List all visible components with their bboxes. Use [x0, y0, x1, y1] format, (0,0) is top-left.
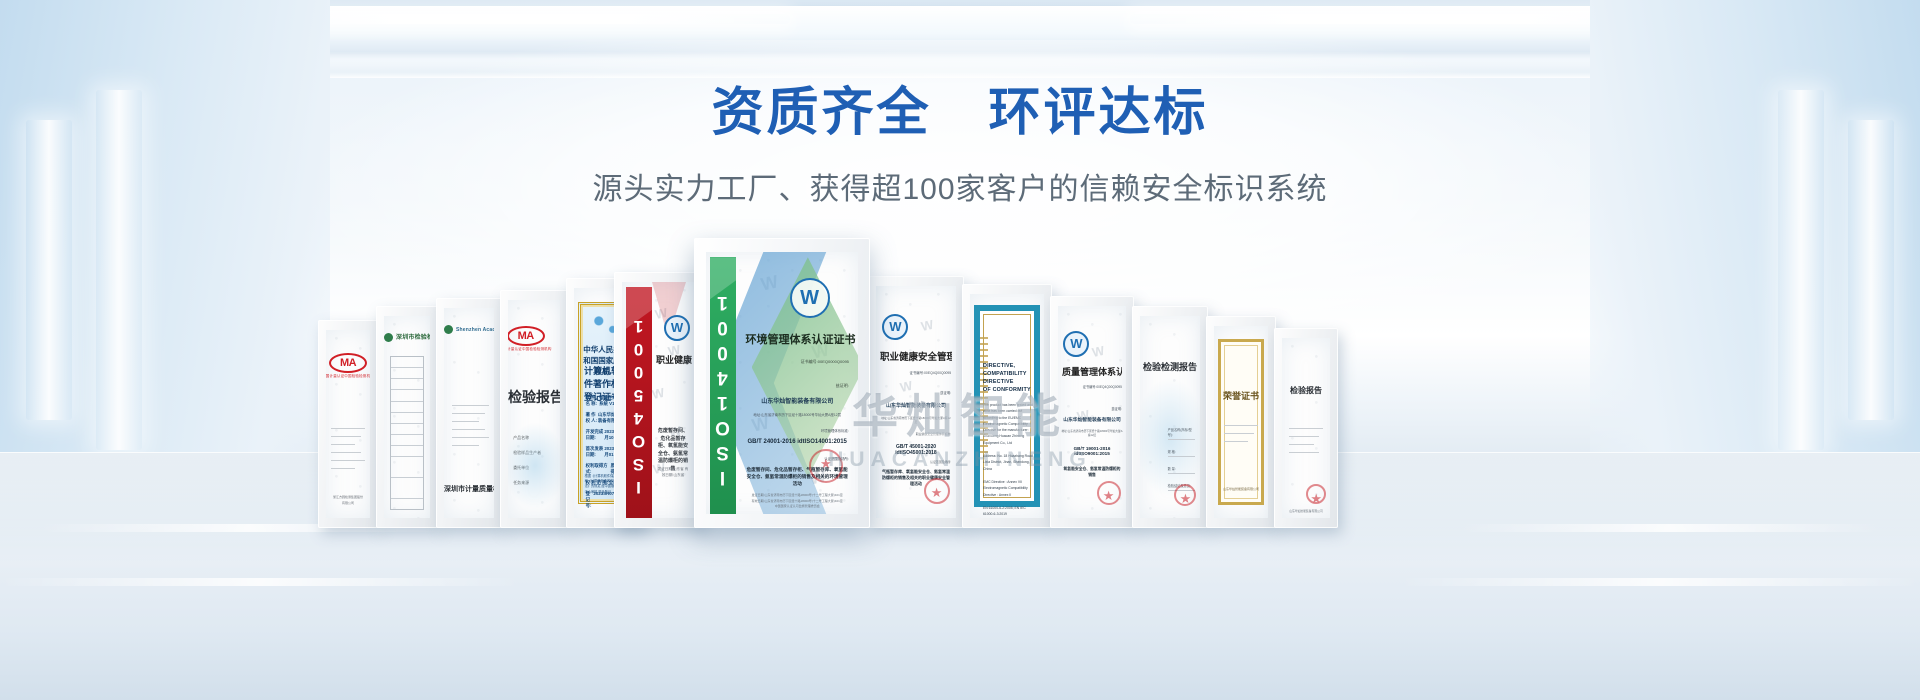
page-subtitle: 源头实力工厂、获得超100家客户的信赖安全标识系统 [0, 164, 1920, 208]
standard-label: 职业健康安全管理体系标准: [881, 432, 951, 436]
watermark-w-icon: W [919, 317, 934, 334]
certificate-title: 环境管理体系认证证书 [746, 331, 852, 347]
certificates-banner: 资质齐全 环评达标 源头实力工厂、获得超100家客户的信赖安全标识系统 MA 中… [0, 0, 1920, 700]
iso-standard-bar: ISO14001 [710, 257, 736, 514]
certificate-paper: W W W W ISO14001 W 环境管理体系认证证书 证书编号:00EQ0… [706, 252, 858, 514]
certificate-title: DIRECTIVE, COMPATIBILITY DIRECTIVE OF CO… [983, 362, 1035, 394]
certificate-paper: Shenzhen Academy of Metrology 深圳市计量质量检测研… [444, 308, 494, 518]
certificate-number: 证书编号:00EQ0000Q0095 [746, 359, 849, 365]
certificate-footer: 发证日期:山东省济南市历下区经十路18000号(十二号工程大厦)401室 有效日… [746, 493, 849, 508]
certificate-footer: 浙江方圆检测集团股份有限公司 [332, 495, 364, 505]
ma-stamp-icon: MA [508, 326, 545, 346]
certificate-frame-iso45001-cn[interactable]: W W W W 职业健康安全管理体系认证证书 证书编号:00EQ4Q00Q009… [868, 276, 964, 528]
certificate-paper: DIRECTIVE, COMPATIBILITY DIRECTIVE OF CO… [970, 294, 1044, 518]
certificate-paper: MA 中国计量认证中国检验检测机构 浙江方圆检测集团股份有限公司 [326, 330, 370, 518]
certificate-company: 山东华灿智能装备有限公司 [1062, 416, 1122, 423]
certificate-title: 质量管理体系认证证书 [1062, 365, 1122, 378]
certificate-frame-iso9001-cn[interactable]: W W W 质量管理体系认证证书 证书编号:00EQ4Q00Q0095 兹证明:… [1050, 296, 1134, 528]
ce-certificate-body: DIRECTIVE, COMPATIBILITY DIRECTIVE OF CO… [974, 305, 1041, 507]
red-company-stamp-icon [809, 449, 843, 483]
certificate-body: The product has been tested and audit ha… [983, 402, 1035, 518]
page-title: 资质齐全 环评达标 [0, 84, 1920, 144]
certificate-footer: 发证日期:山东省 有效日期:山东省 [656, 466, 690, 478]
certificate-paper: 荣誉证书 山东华灿智能装备有限公司 [1214, 326, 1268, 518]
iso-standard-bar: ISO45001 [626, 287, 652, 518]
holder-label: 兹证明: [746, 383, 849, 389]
form-lines [1289, 428, 1324, 460]
holder-label: 兹证明: [1062, 406, 1122, 411]
ma-stamp-icon: MA [329, 353, 367, 373]
certificate-standard: GB/T 45001-2020 idtISO45001:2018 [881, 444, 951, 456]
certificate-frame-gold-honor[interactable]: 荣誉证书 山东华灿智能装备有限公司 [1206, 316, 1276, 528]
certificate-frame-iso14001-feature[interactable]: W W W W ISO14001 W 环境管理体系认证证书 证书编号:00EQ0… [694, 238, 870, 528]
report-table [390, 356, 425, 510]
certificate-frame-ce-directive[interactable]: DIRECTIVE, COMPATIBILITY DIRECTIVE OF CO… [962, 284, 1052, 528]
certificate-address: 地址:山东省济南市历下区经十路18000号华灿大厦A座12层 [742, 412, 851, 417]
green-seal-icon [384, 333, 393, 342]
watermark-w-icon: W [650, 385, 665, 402]
certificate-number: 证书编号:00EQ4Q00Q0095 [1062, 384, 1122, 389]
certificate-paper: W W W W 职业健康安全管理体系认证证书 证书编号:00EQ4Q00Q009… [876, 286, 956, 518]
certificate-number: 证书编号:00EQ4Q00Q0095 [881, 370, 951, 375]
holder-label: 兹证明: [881, 390, 951, 395]
certificate-title: 检验报告 [1282, 385, 1330, 396]
certificate-scope: 氧氢能安全仓、氨氢常温防爆柜的销售 [1062, 467, 1122, 478]
ma-stamp-sublabel: 中国计量认证中国检验检测机构 [326, 374, 370, 379]
form-lines [452, 405, 489, 453]
floor-light-beam-3 [0, 578, 520, 586]
ceiling-light-strip-right [1130, 14, 1690, 24]
certificate-footer: 山东华灿智能装备有限公司 [1285, 509, 1327, 513]
certificate-footer: 山东华灿智能装备有限公司 [1221, 487, 1262, 491]
certificate-title: 职业健康安全管理体系认证证书 [656, 353, 692, 366]
certificate-title: 职业健康安全管理体系认证证书 [880, 349, 952, 363]
certificate-frame-shenzhen-fields[interactable]: Shenzhen Academy of Metrology 深圳市计量质量检测研… [436, 298, 502, 528]
floor-light-beam-4 [1400, 578, 1920, 586]
red-company-stamp-icon [1306, 484, 1326, 504]
certificate-title: 检验报告 [508, 387, 560, 407]
certificate-title: 检验检测报告 [1140, 360, 1200, 373]
certificate-frame-blank-form[interactable]: 检验检测报告 产品名称(商标/型号): 规 格: 数 量: 检验结论及意见: [1132, 306, 1208, 528]
red-company-stamp-icon [1174, 484, 1196, 506]
headline-right: 环评达标 [988, 84, 1208, 142]
certificate-paper: W W W 质量管理体系认证证书 证书编号:00EQ4Q00Q0095 兹证明:… [1058, 306, 1126, 518]
certificate-standard: GB/T 24001-2016 idtISO14001:2015 [746, 439, 849, 445]
certificate-paper: 深圳市检验检测研究院 [384, 316, 430, 518]
certificate-header: Shenzhen Academy of Metrology [444, 325, 494, 334]
certificate-company: 山东华灿智能装备有限公司 [881, 402, 951, 409]
certificate-paper: MA 中国计量认证中国检验检测机构 检验报告 产品名称 检验样品生产者 委托单位… [508, 300, 560, 518]
certificate-frame-ma-report-2[interactable]: MA 中国计量认证中国检验检测机构 检验报告 产品名称 检验样品生产者 委托单位… [500, 290, 568, 528]
headline-left: 资质齐全 [712, 84, 932, 142]
certificate-company: 山东华灿智能装备有限公司 [746, 396, 849, 405]
certificate-frame-ma-left[interactable]: MA 中国计量认证中国检验检测机构 浙江方圆检测集团股份有限公司 [318, 320, 378, 528]
standard-label: 环境管理体系标准: [746, 428, 849, 433]
certificate-paper: 检验检测报告 产品名称(商标/型号): 规 格: 数 量: 检验结论及意见: [1140, 316, 1200, 518]
certificate-rack: MA 中国计量认证中国检验检测机构 浙江方圆检测集团股份有限公司 深圳市检验检测… [0, 228, 1920, 528]
form-lines [331, 428, 364, 476]
ma-stamp-sublabel: 中国计量认证中国检验检测机构 [508, 347, 552, 352]
certificate-paper: 检验报告 山东华灿智能装备有限公司 [1282, 338, 1330, 518]
red-company-stamp-icon [1097, 481, 1121, 505]
certificate-header: 深圳市检验检测研究院 [384, 332, 430, 342]
certificate-title: 荣誉证书 [1218, 389, 1264, 402]
certificate-frame-iso45001[interactable]: W W W W W ISO45001 职业健康安全管理体系认证证书 W 危废暂存… [614, 272, 704, 528]
red-company-stamp-icon [924, 478, 950, 504]
certificate-frame-plain-right[interactable]: 检验报告 山东华灿智能装备有限公司 [1274, 328, 1338, 528]
paper-globe-graphic [508, 422, 560, 509]
gold-certificate-body: 荣誉证书 山东华灿智能装备有限公司 [1218, 339, 1264, 504]
certificate-footer: 深圳市计量质量检测研究院 [444, 484, 494, 494]
certificate-paper: W W W W W ISO45001 职业健康安全管理体系认证证书 W 危废暂存… [622, 282, 696, 518]
green-seal-icon [444, 325, 453, 334]
certificate-frame-shenzhen-table[interactable]: 深圳市检验检测研究院 [376, 306, 438, 528]
ceiling-light-strip-left [230, 14, 790, 24]
banner-text-block: 资质齐全 环评达标 源头实力工厂、获得超100家客户的信赖安全标识系统 [0, 84, 1920, 208]
scope-label: 认证范围及场所: [881, 460, 951, 464]
certificate-address: 地址:山东省济南市历下区经十路18000号华灿大厦A座12层 [1061, 429, 1122, 437]
form-lines [1224, 425, 1257, 449]
cnas-seal-icon: W [790, 278, 830, 318]
certificate-standard: GB/T 19001-2016 idtISO9001:2015 [1062, 446, 1122, 456]
certificate-address: 地址:山东省济南市历下区经十路18000号华灿大厦A座12层 [880, 416, 952, 424]
report-fields: 产品名称(商标/型号): 规 格: 数 量: 检验结论及意见: [1168, 427, 1196, 491]
cnas-seal-icon: W [664, 315, 690, 341]
